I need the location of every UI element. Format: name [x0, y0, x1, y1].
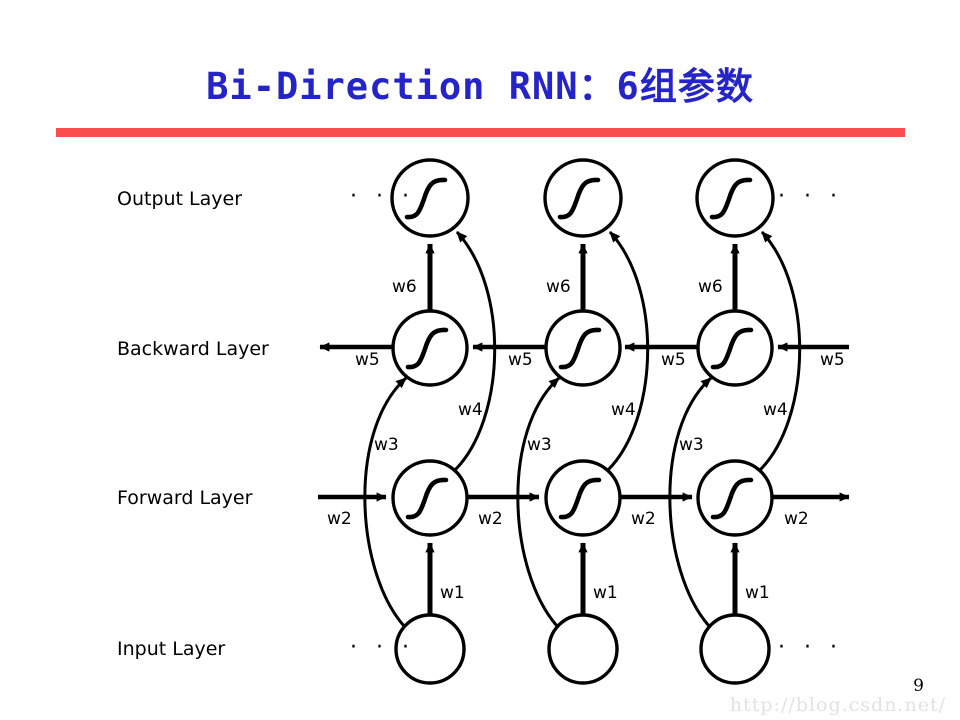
- node-forward[interactable]: [546, 461, 620, 535]
- page-number: 9: [913, 676, 924, 696]
- node-group-backward: [393, 311, 772, 385]
- weight-label-w5: w5: [820, 350, 845, 370]
- node-input[interactable]: [701, 615, 769, 683]
- watermark: http://blog.csdn.net/: [730, 694, 946, 716]
- weight-label-w3: w3: [374, 435, 399, 455]
- weight-label-w3: w3: [679, 435, 704, 455]
- ellipsis-output-left: · · ·: [350, 184, 415, 209]
- node-backward[interactable]: [393, 311, 467, 385]
- node-backward[interactable]: [546, 311, 620, 385]
- layer-label-input: Input Layer: [117, 638, 225, 660]
- ellipsis-input-left: · · ·: [350, 635, 415, 660]
- weight-label-w6: w6: [698, 277, 723, 297]
- weight-label-w2: w2: [631, 509, 656, 529]
- weight-label-w2: w2: [784, 509, 809, 529]
- weight-label-w1: w1: [440, 583, 465, 603]
- node-output[interactable]: [545, 160, 621, 236]
- weight-label-w2: w2: [327, 509, 352, 529]
- node-output[interactable]: [697, 160, 773, 236]
- weight-label-w2: w2: [478, 509, 503, 529]
- node-group-forward: [393, 461, 772, 535]
- weight-label-w3: w3: [527, 435, 552, 455]
- layer-label-output: Output Layer: [117, 188, 242, 210]
- edge-group-w6: [430, 244, 735, 311]
- weight-label-w4: w4: [611, 400, 636, 420]
- weight-label-w1: w1: [593, 583, 618, 603]
- slide-canvas: Bi-Direction RNN：6组参数: [0, 0, 960, 720]
- layer-label-forward: Forward Layer: [117, 487, 252, 509]
- node-group-input: [396, 615, 769, 683]
- ellipsis-input-right: · · ·: [778, 635, 843, 660]
- weight-label-w4: w4: [763, 400, 788, 420]
- weight-label-w5: w5: [661, 350, 686, 370]
- weight-label-w5: w5: [508, 350, 533, 370]
- weight-label-w6: w6: [392, 277, 417, 297]
- weight-label-w4: w4: [458, 400, 483, 420]
- layer-label-backward: Backward Layer: [117, 338, 269, 360]
- weight-label-w5: w5: [355, 350, 380, 370]
- node-forward[interactable]: [393, 461, 467, 535]
- ellipsis-output-right: · · ·: [778, 184, 843, 209]
- node-backward[interactable]: [698, 311, 772, 385]
- weight-label-w6: w6: [546, 277, 571, 297]
- node-group-output: [392, 160, 773, 236]
- weight-label-w1: w1: [745, 583, 770, 603]
- node-forward[interactable]: [698, 461, 772, 535]
- node-input[interactable]: [549, 615, 617, 683]
- rnn-architecture-diagram: [0, 0, 960, 720]
- edge-group-w1: [430, 543, 735, 615]
